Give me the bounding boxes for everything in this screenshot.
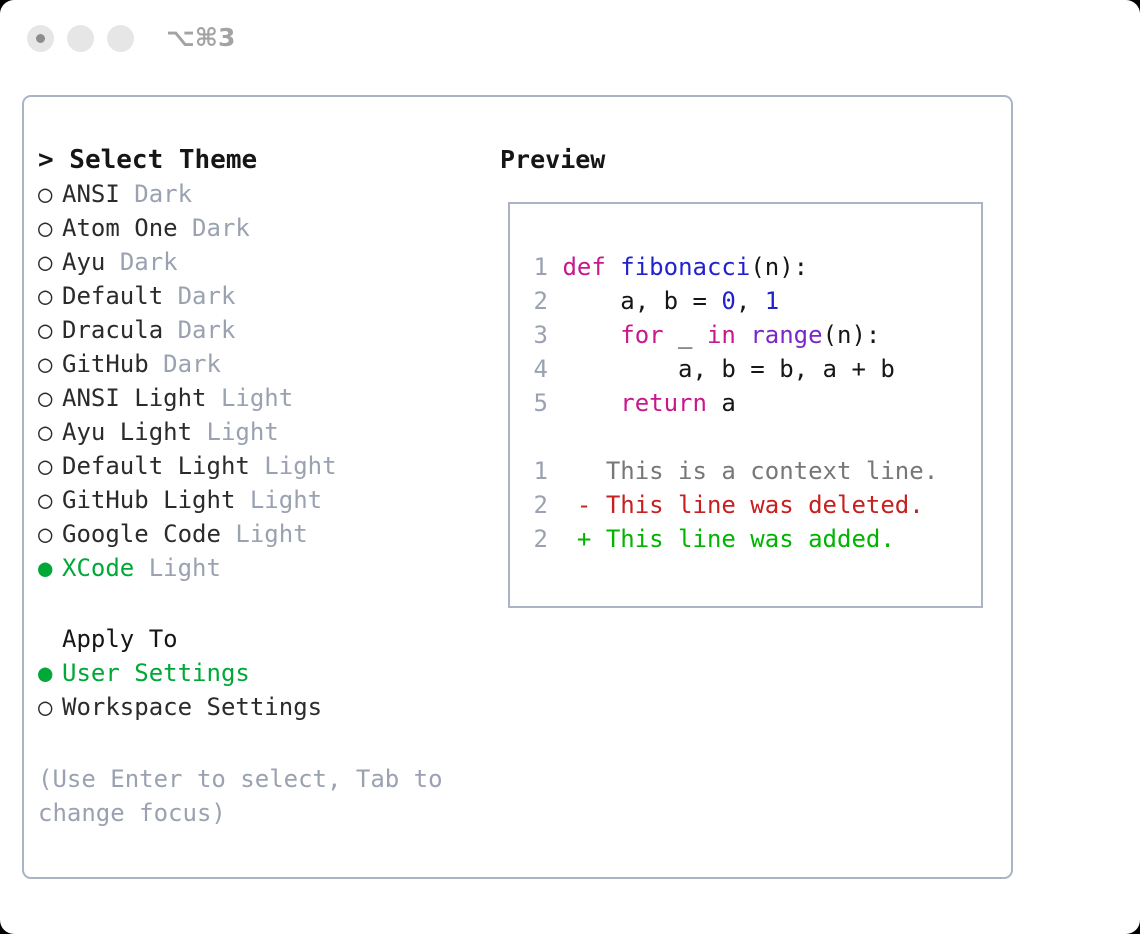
radio-unselected-icon: ○ (38, 313, 62, 347)
theme-list-item[interactable]: ○Atom One Dark (38, 211, 498, 245)
line-number: 2 (526, 488, 548, 522)
main-panel: > Select Theme ○ANSI Dark○Atom One Dark○… (22, 95, 1013, 879)
window-dot-two[interactable] (67, 25, 94, 52)
code-token: (n): (750, 253, 808, 281)
theme-variant-tag: Light (149, 554, 221, 582)
theme-name: ANSI Light (62, 384, 207, 412)
preview-title: Preview (500, 143, 1000, 177)
code-line: 5 return a (526, 386, 975, 420)
theme-list-item[interactable]: ○Ayu Light Light (38, 415, 498, 449)
radio-selected-icon: ● (38, 551, 62, 585)
code-line: 2 a, b = 0, 1 (526, 284, 975, 318)
code-token: _ (664, 321, 707, 349)
line-number: 4 (526, 352, 548, 386)
theme-list-item[interactable]: ○GitHub Dark (38, 347, 498, 381)
theme-selector-header: > Select Theme (38, 143, 498, 177)
theme-name: Dracula (62, 316, 163, 344)
code-token: range (750, 321, 822, 349)
code-token (606, 253, 620, 281)
theme-name: ANSI (62, 180, 120, 208)
line-number: 3 (526, 318, 548, 352)
radio-unselected-icon: ○ (38, 245, 62, 279)
radio-unselected-icon: ○ (38, 211, 62, 245)
diff-marker (577, 457, 606, 485)
code-token: in (707, 321, 736, 349)
theme-variant-tag: Light (250, 486, 322, 514)
code-token: , (736, 287, 765, 315)
line-number: 5 (526, 386, 548, 420)
diff-line: 2 + This line was added. (526, 522, 975, 556)
app-window: ⌥⌘3 > Select Theme ○ANSI Dark○Atom One D… (0, 0, 1140, 934)
apply-to-section: Apply To ●User Settings○Workspace Settin… (38, 622, 498, 724)
apply-to-title: Apply To (38, 622, 498, 656)
radio-unselected-icon: ○ (38, 415, 62, 449)
radio-unselected-icon: ○ (38, 449, 62, 483)
code-token: return (620, 389, 707, 417)
theme-selector: > Select Theme ○ANSI Dark○Atom One Dark○… (38, 143, 498, 585)
theme-name: Atom One (62, 214, 178, 242)
theme-list-item[interactable]: ○Ayu Dark (38, 245, 498, 279)
theme-name: Default Light (62, 452, 250, 480)
keyboard-shortcut-label: ⌥⌘3 (166, 23, 235, 52)
line-number: 2 (526, 284, 548, 318)
code-line: 4 a, b = b, a + b (526, 352, 975, 386)
diff-text: This line was added. (606, 525, 895, 553)
window-dot-active[interactable] (27, 25, 54, 52)
theme-list[interactable]: ○ANSI Dark○Atom One Dark○Ayu Dark○Defaul… (38, 177, 498, 585)
theme-name: XCode (62, 554, 134, 582)
theme-list-item[interactable]: ○Google Code Light (38, 517, 498, 551)
theme-list-item[interactable]: ●XCode Light (38, 551, 498, 585)
theme-variant-tag: Light (235, 520, 307, 548)
theme-variant-tag: Light (221, 384, 293, 412)
radio-unselected-icon: ○ (38, 483, 62, 517)
diff-text: This is a context line. (606, 457, 938, 485)
theme-variant-tag: Light (207, 418, 279, 446)
theme-name: GitHub (62, 350, 149, 378)
code-sample: 1 def fibonacci(n):2 a, b = 0, 13 for _ … (526, 250, 975, 420)
theme-variant-tag: Dark (178, 316, 236, 344)
theme-list-item[interactable]: ○ANSI Light Light (38, 381, 498, 415)
code-line: 1 def fibonacci(n): (526, 250, 975, 284)
code-token: a (707, 389, 736, 417)
preview-box: 1 def fibonacci(n):2 a, b = 0, 13 for _ … (508, 202, 983, 608)
radio-unselected-icon: ○ (38, 279, 62, 313)
code-token: 0 (721, 287, 735, 315)
apply-to-option[interactable]: ●User Settings (38, 656, 498, 690)
code-token: a, b = (562, 287, 721, 315)
radio-selected-icon: ● (38, 656, 62, 690)
radio-unselected-icon: ○ (38, 381, 62, 415)
theme-list-item[interactable]: ○ANSI Dark (38, 177, 498, 211)
code-token: for (620, 321, 663, 349)
diff-text: This line was deleted. (606, 491, 924, 519)
code-token (736, 321, 750, 349)
apply-to-option-label: Workspace Settings (62, 693, 322, 721)
apply-to-option[interactable]: ○Workspace Settings (38, 690, 498, 724)
diff-sample: 1 This is a context line.2 - This line w… (526, 454, 975, 556)
keyboard-hint-text: (Use Enter to select, Tab to change focu… (38, 762, 458, 830)
diff-line: 1 This is a context line. (526, 454, 975, 488)
theme-variant-tag: Dark (134, 180, 192, 208)
window-controls (27, 25, 134, 52)
theme-variant-tag: Dark (120, 248, 178, 276)
diff-line: 2 - This line was deleted. (526, 488, 975, 522)
theme-list-item[interactable]: ○Dracula Dark (38, 313, 498, 347)
theme-variant-tag: Dark (192, 214, 250, 242)
line-number: 1 (526, 454, 548, 488)
theme-name: Ayu Light (62, 418, 192, 446)
theme-variant-tag: Light (264, 452, 336, 480)
code-token: fibonacci (620, 253, 750, 281)
active-indicator-dot (36, 34, 45, 43)
code-token: 1 (765, 287, 779, 315)
theme-list-item[interactable]: ○GitHub Light Light (38, 483, 498, 517)
diff-marker: - (577, 491, 606, 519)
theme-name: Ayu (62, 248, 105, 276)
code-token: a, b = b, a + b (562, 355, 894, 383)
theme-name: GitHub Light (62, 486, 235, 514)
preview-section: Preview (500, 143, 1000, 177)
code-line: 3 for _ in range(n): (526, 318, 975, 352)
theme-variant-tag: Dark (163, 350, 221, 378)
theme-variant-tag: Dark (178, 282, 236, 310)
theme-name: Google Code (62, 520, 221, 548)
line-number: 1 (526, 250, 548, 284)
line-number: 2 (526, 522, 548, 556)
title-bar: ⌥⌘3 (0, 0, 1140, 78)
diff-marker: + (577, 525, 606, 553)
theme-name: Default (62, 282, 163, 310)
code-token (562, 321, 620, 349)
radio-unselected-icon: ○ (38, 177, 62, 211)
theme-list-item[interactable]: ○Default Dark (38, 279, 498, 313)
apply-to-option-label: User Settings (62, 659, 250, 687)
code-token (562, 389, 620, 417)
code-token: def (562, 253, 605, 281)
window-dot-three[interactable] (107, 25, 134, 52)
radio-unselected-icon: ○ (38, 347, 62, 381)
theme-list-item[interactable]: ○Default Light Light (38, 449, 498, 483)
code-token: (n): (823, 321, 881, 349)
radio-unselected-icon: ○ (38, 517, 62, 551)
apply-to-list[interactable]: ●User Settings○Workspace Settings (38, 656, 498, 724)
radio-unselected-icon: ○ (38, 690, 62, 724)
